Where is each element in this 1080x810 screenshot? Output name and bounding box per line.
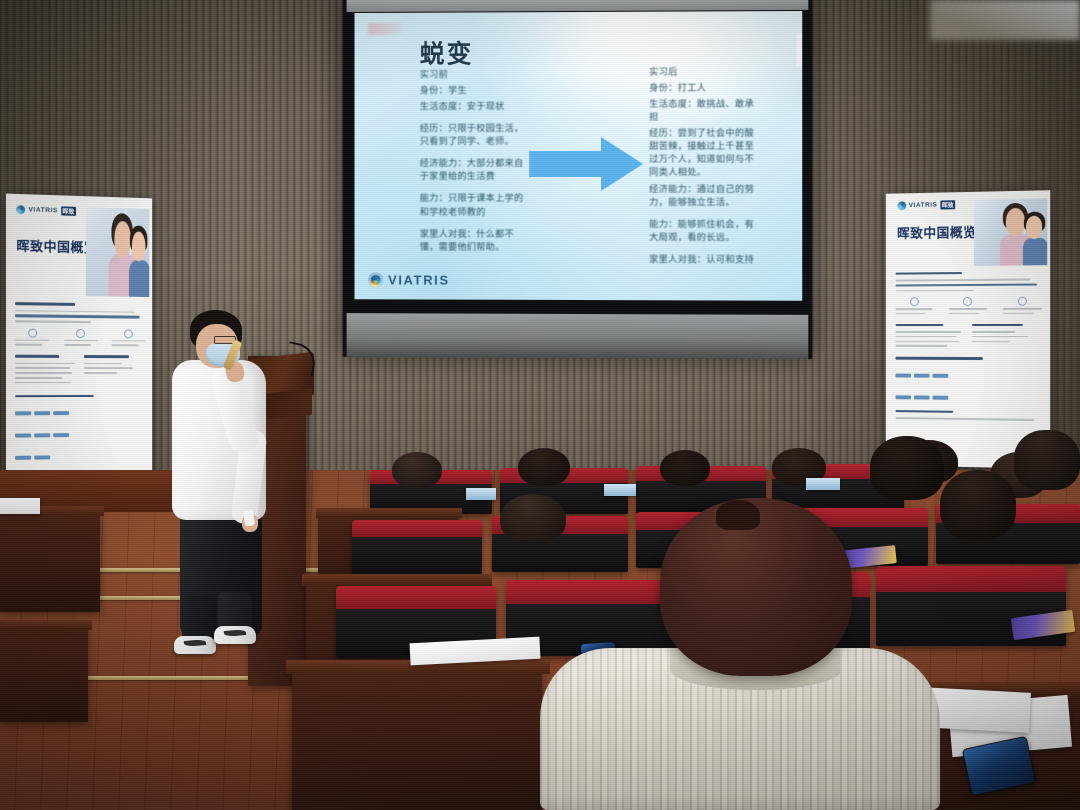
slide-left-column: 实习前 身份：学生 生活态度：安于现状 经历：只限于校园生活，只看到了同学、老师… <box>420 68 531 262</box>
left-line-4: 能力：只限于课本上学的和学校老师教的 <box>420 192 531 218</box>
laptop-screen <box>806 478 840 490</box>
presentation-slide: 蜕变 实习前 身份：学生 生活态度：安于现状 经历：只限于校园生活，只看到了同学… <box>355 11 803 301</box>
projection-screen: 蜕变 实习前 身份：学生 生活态度：安于现状 经历：只限于校园生活，只看到了同学… <box>343 0 813 359</box>
attendee-head <box>1014 430 1080 490</box>
slide-brand-logo: VIATRIS <box>368 272 449 287</box>
banner-right-logo: VIATRIS 晖致 <box>897 200 955 210</box>
presenter <box>166 310 276 670</box>
screen-top-frame <box>347 0 809 12</box>
left-line-3: 经济能力：大部分都来自于家里给的生活费 <box>420 157 531 183</box>
left-line-0: 身份：学生 <box>420 84 531 97</box>
right-heading: 实习后 <box>649 65 762 78</box>
handout-paper <box>0 498 40 514</box>
photo-person-child-body <box>129 260 149 297</box>
presenter-clicker <box>243 509 255 526</box>
shoe-swoosh-icon <box>224 629 247 637</box>
right-line-4: 能力：能够抓住机会，有大局观，看的长远。 <box>649 218 762 244</box>
photo-person-child-face <box>132 232 146 262</box>
banner-left-logo-cn: 晖致 <box>61 207 76 216</box>
left-line-2: 经历：只限于校园生活，只看到了同学、老师。 <box>420 122 531 148</box>
ceiling-light-glow <box>930 0 1080 40</box>
right-line-5: 家里人对我：认可和支持 <box>649 253 762 266</box>
presenter-shoe-left <box>174 636 216 654</box>
banner-left-logo-text: VIATRIS <box>29 207 58 215</box>
attendee-head <box>870 436 944 500</box>
laptop-screen <box>604 484 636 496</box>
attendee-head <box>660 450 710 486</box>
desk <box>0 626 88 722</box>
photo-person-child-face <box>1026 216 1042 239</box>
desk <box>0 512 100 612</box>
desk-surface <box>0 620 92 630</box>
slide-edge-highlight <box>796 33 802 67</box>
attendee-hair-part <box>716 500 760 530</box>
desk <box>292 668 542 810</box>
viatris-swirl-icon <box>368 272 383 287</box>
left-heading: 实习前 <box>420 68 531 81</box>
slide-corner-decoration <box>368 23 402 35</box>
slide-right-column: 实习后 身份：打工人 生活态度：敢挑战、敢承担 经历：尝到了社会中的酸甜苦辣，接… <box>649 65 762 275</box>
right-line-1: 生活态度：敢挑战、敢承担 <box>649 98 762 124</box>
right-line-2: 经历：尝到了社会中的酸甜苦辣，接触过上千甚至过万个人，知道如何与不同类人相处。 <box>649 127 762 180</box>
screen-bottom-frame <box>347 313 809 359</box>
viatris-swirl-icon <box>897 201 906 210</box>
conference-hall-scene: 蜕变 实习前 身份：学生 生活态度：安于现状 经历：只限于校园生活，只看到了同学… <box>0 0 1080 810</box>
rollup-banner-right: VIATRIS 晖致 晖致中国概览 <box>886 190 1050 469</box>
laptop-screen <box>466 488 496 500</box>
attendee-head <box>392 452 442 488</box>
shoe-swoosh-icon <box>184 639 207 647</box>
presenter-shoe-right <box>214 626 256 644</box>
foreground-attendee <box>520 498 1020 810</box>
attendee-head <box>518 448 570 486</box>
banner-right-photo <box>974 199 1047 267</box>
viatris-swirl-icon <box>16 205 25 214</box>
banner-left-logo: VIATRIS 晖致 <box>16 205 75 216</box>
photo-person-adult-face <box>1006 208 1025 236</box>
slide-title: 蜕变 <box>420 34 474 70</box>
desk-surface <box>302 574 492 586</box>
banner-right-logo-text: VIATRIS <box>909 202 938 210</box>
left-line-5: 家里人对我：什么都不懂，需要他们帮助。 <box>420 227 531 253</box>
photo-person-child-body <box>1023 237 1047 265</box>
transformation-arrow-icon <box>529 135 644 193</box>
right-line-3: 经济能力：通过自己的努力，能够独立生活。 <box>649 183 762 209</box>
slide-logo-text: VIATRIS <box>388 272 450 287</box>
banner-right-body-text <box>895 271 1041 463</box>
photo-person-adult-face <box>114 220 130 257</box>
banner-right-headline: 晖致中国概览 <box>897 222 976 242</box>
seat <box>352 520 482 574</box>
banner-right-logo-cn: 晖致 <box>940 200 955 209</box>
banner-left-photo <box>86 207 149 297</box>
desk-surface <box>316 508 462 518</box>
right-line-0: 身份：打工人 <box>649 82 762 95</box>
left-line-1: 生活态度：安于现状 <box>420 100 531 113</box>
